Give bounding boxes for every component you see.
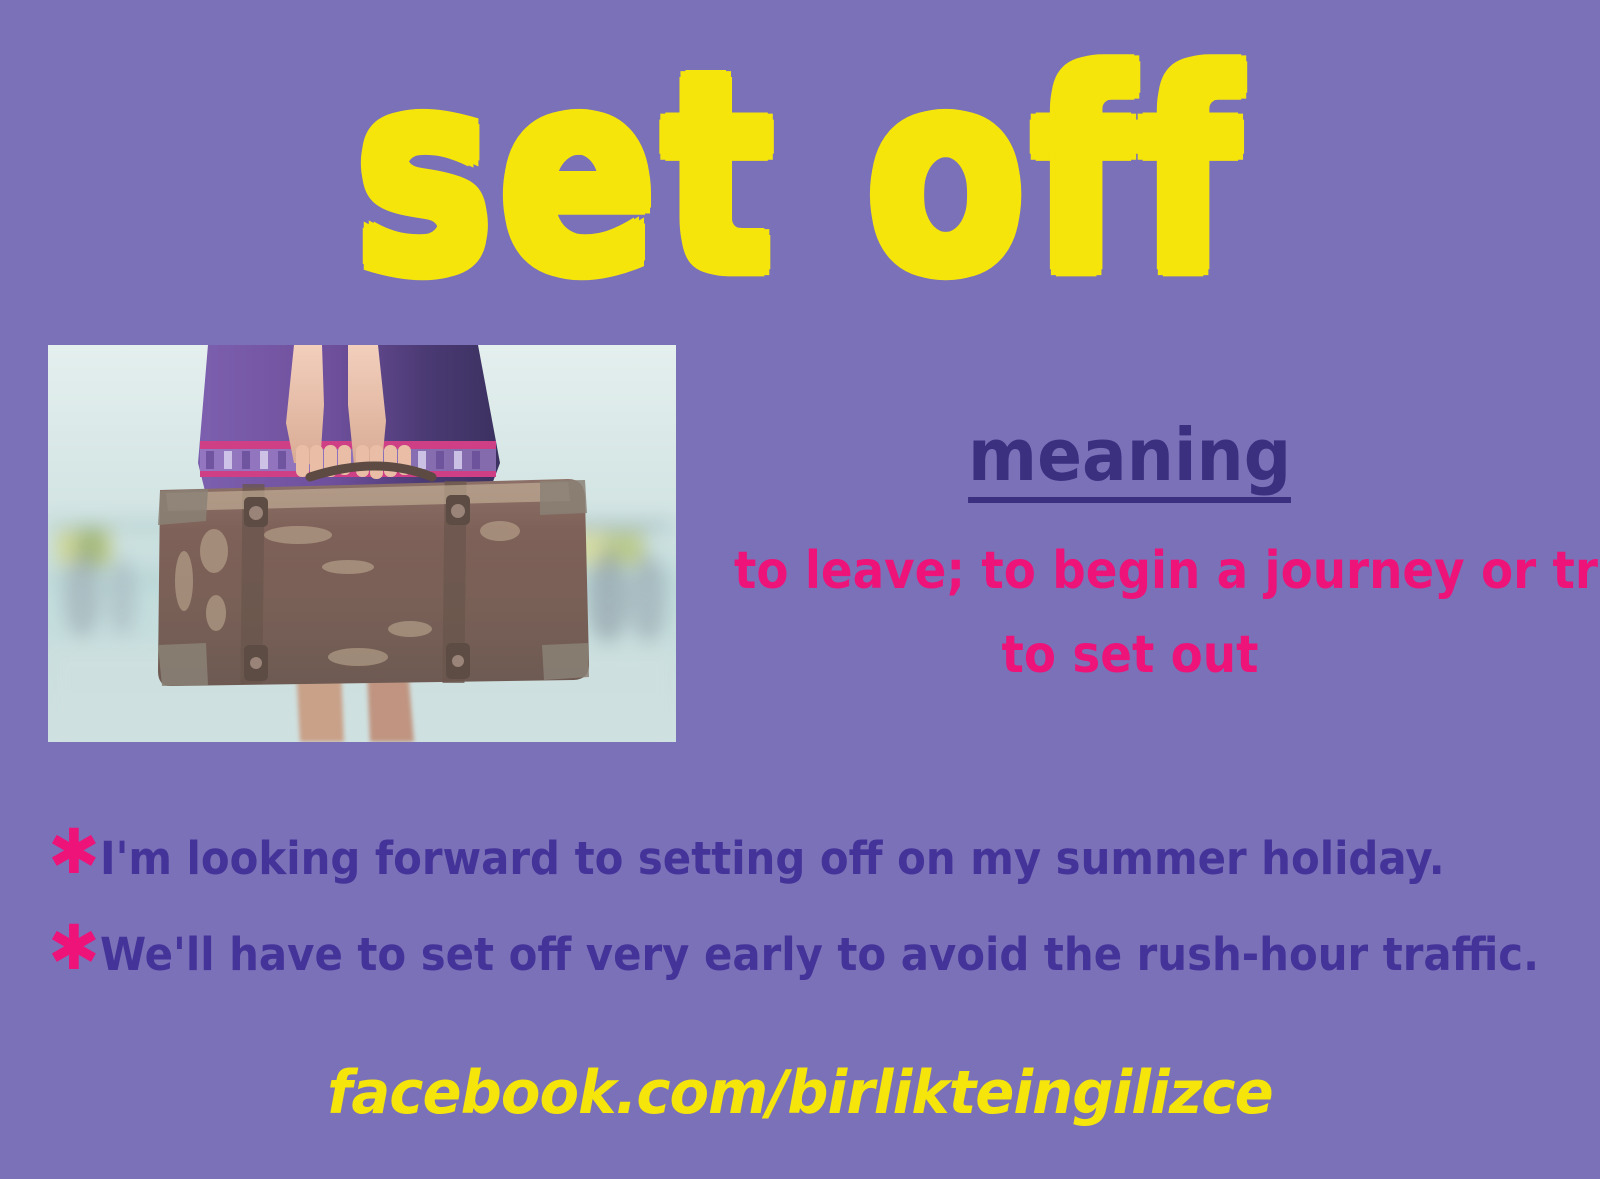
meaning-heading: meaning xyxy=(968,415,1291,503)
meaning-section: meaning to leave; to begin a journey or … xyxy=(690,415,1570,697)
example-sentence-2: We'll have to set off very early to avoi… xyxy=(100,922,1539,982)
example-row: ✱ We'll have to set off very early to av… xyxy=(48,922,1508,982)
suitcase-photo xyxy=(48,345,676,742)
facebook-url[interactable]: facebook.com/birlikteingilizce xyxy=(32,1056,1568,1130)
meaning-definition: to leave; to begin a journey or trip to … xyxy=(734,529,1526,697)
example-row: ✱ I'm looking forward to setting off on … xyxy=(48,826,1508,886)
asterisk-icon: ✱ xyxy=(48,922,100,974)
example-sentence-1: I'm looking forward to setting off on my… xyxy=(100,826,1445,886)
poster-canvas: set off xyxy=(0,0,1600,1179)
page-title: set off xyxy=(0,38,1600,312)
definition-line-1: to leave; to begin a journey or trip xyxy=(734,529,1526,613)
definition-line-2: to set out xyxy=(734,613,1526,697)
examples-section: ✱ I'm looking forward to setting off on … xyxy=(48,826,1508,1018)
asterisk-icon: ✱ xyxy=(48,826,100,878)
suitcase-photo-graphic xyxy=(48,345,676,742)
